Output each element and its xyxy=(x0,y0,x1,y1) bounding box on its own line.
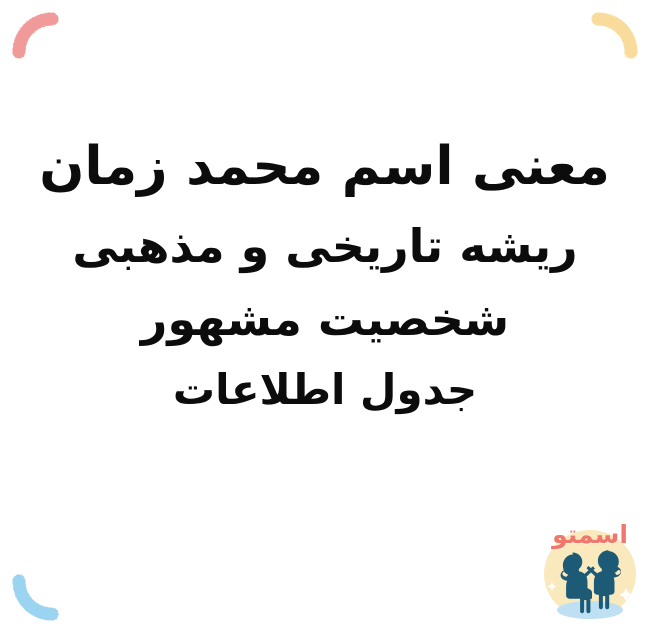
headline-line-3: شخصیت مشهور xyxy=(40,296,610,342)
headline-block: معنی اسم محمد زمان ریشه تاریخی و مذهبی ش… xyxy=(40,140,610,411)
headline-line-2: ریشه تاریخی و مذهبی xyxy=(40,223,610,269)
logo-wordmark: اسمتو xyxy=(534,522,646,547)
headline-line-4: جدول اطلاعات xyxy=(40,369,610,411)
headline-line-1: معنی اسم محمد زمان xyxy=(40,140,610,193)
poster-canvas: معنی اسم محمد زمان ریشه تاریخی و مذهبی ش… xyxy=(0,0,650,634)
brand-logo[interactable]: اسمتو xyxy=(534,516,646,628)
